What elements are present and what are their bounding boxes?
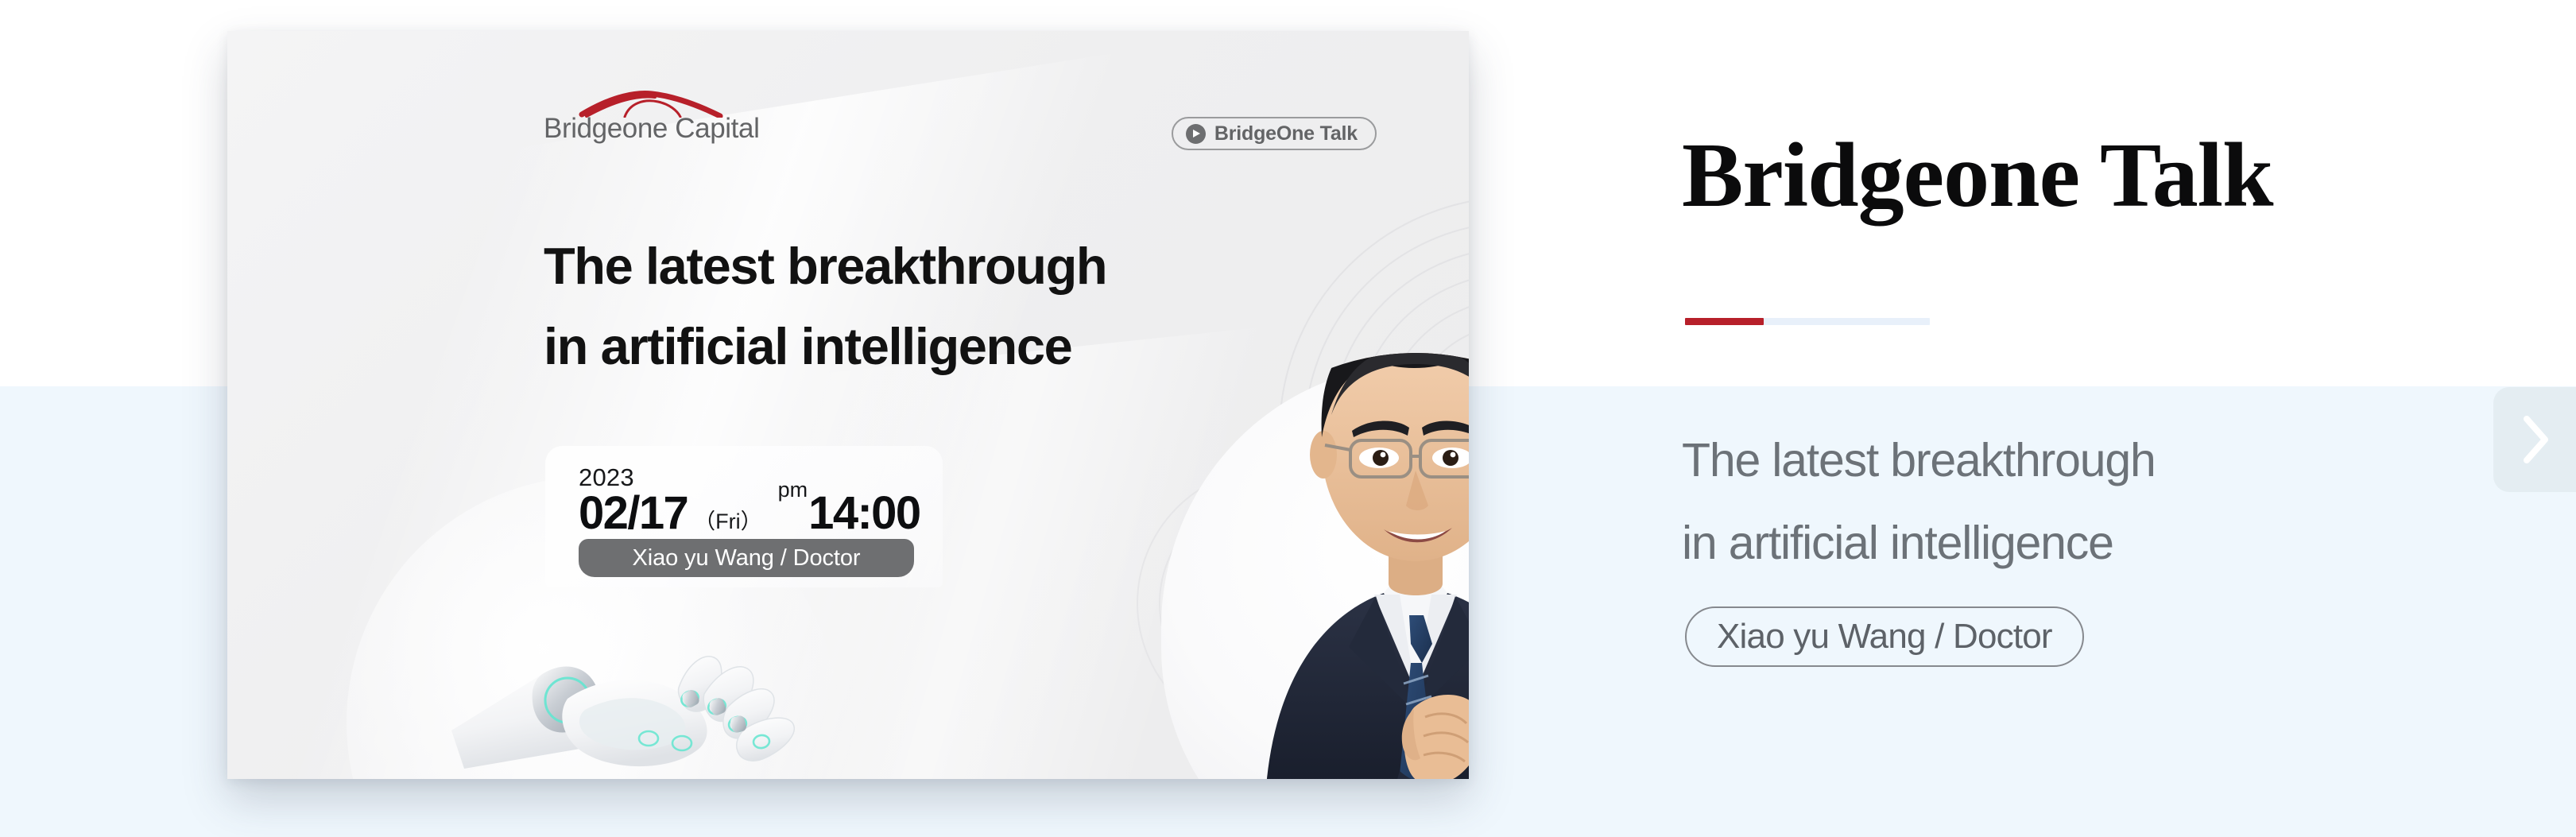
slide-progress-track[interactable]: [1685, 318, 1930, 325]
slide-subtitle-line-1: The latest breakthrough: [1682, 420, 2397, 502]
play-circle-icon: [1186, 124, 1206, 144]
badge-label: BridgeOne Talk: [1214, 122, 1358, 145]
event-weekday: （Fri）: [694, 511, 761, 533]
card-sheen-decoration: [227, 37, 1325, 779]
brand-name: Bridgeone Capital: [544, 113, 759, 145]
chevron-right-icon: [2516, 413, 2553, 467]
slide-subtitle-line-2: in artificial intelligence: [1682, 502, 2397, 585]
slide-subtitle: The latest breakthrough in artificial in…: [1682, 420, 2397, 585]
slide-speaker-button[interactable]: Xiao yu Wang / Doctor: [1685, 606, 2084, 667]
carousel-slide: Bridgeone Capital BridgeOne Talk The lat…: [0, 0, 2576, 837]
brand-logo: Bridgeone Capital: [544, 91, 782, 143]
card-headline-line-1: The latest breakthrough: [544, 227, 1243, 307]
next-slide-button[interactable]: [2493, 387, 2576, 492]
event-meridiem: pm: [778, 479, 808, 501]
card-headline: The latest breakthrough in artificial in…: [544, 227, 1243, 387]
event-date: 02/17: [579, 490, 688, 537]
card-headline-line-2: in artificial intelligence: [544, 307, 1243, 387]
event-date-row: 02/17 （Fri） pm 14:00: [579, 490, 920, 537]
slide-progress-fill: [1685, 318, 1764, 325]
event-time: 14:00: [808, 490, 920, 537]
slide-title: Bridgeone Talk: [1682, 130, 2272, 222]
event-time-group: pm 14:00: [778, 490, 920, 537]
card-speaker-chip: Xiao yu Wang / Doctor: [579, 539, 914, 577]
robot-hand-illustration: [451, 579, 825, 779]
bridgeone-talk-badge[interactable]: BridgeOne Talk: [1172, 117, 1377, 150]
promo-card[interactable]: Bridgeone Capital BridgeOne Talk The lat…: [227, 31, 1469, 779]
